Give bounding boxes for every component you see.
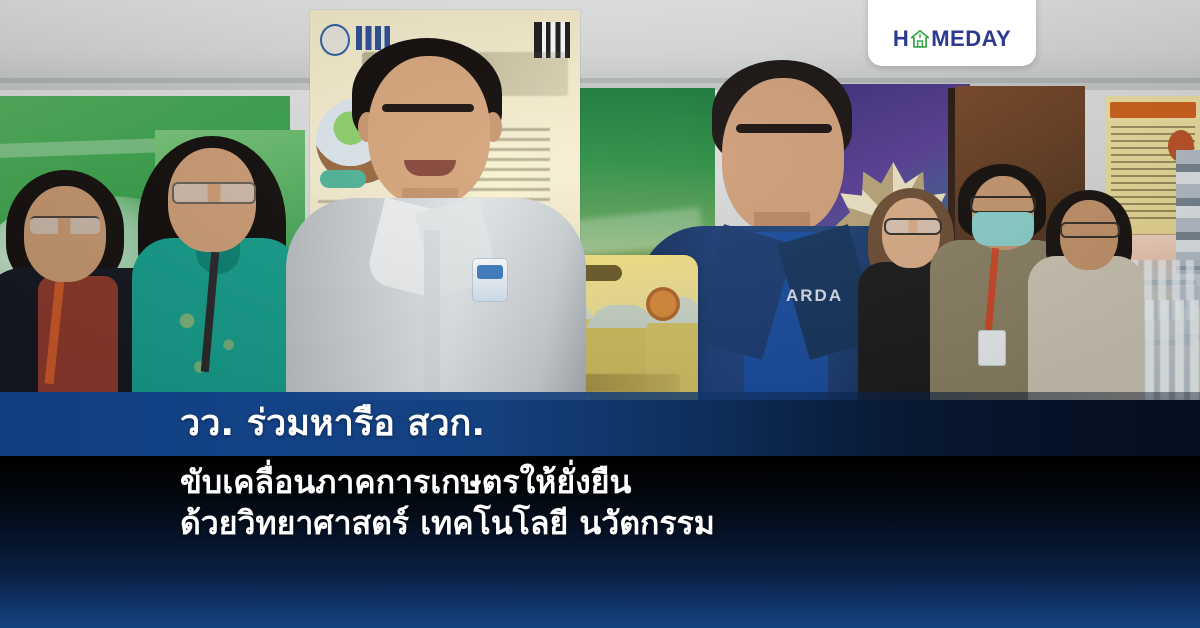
event-badge-icon [472,258,508,302]
poster-emblem-icon [320,24,350,56]
glasses-icon [1060,222,1120,238]
id-card-icon [978,330,1006,366]
man-grey-shirt-placket [424,230,440,400]
headline-line-2: ขับเคลื่อนภาคการเกษตรให้ยั่งยืน [180,462,715,503]
bottom-gradient-panel: ขับเคลื่อนภาคการเกษตรให้ยั่งยืน ด้วยวิทย… [0,456,1200,628]
man-navy-jacket-head [722,78,844,234]
headline-subtext: ขับเคลื่อนภาคการเกษตรให้ยั่งยืน ด้วยวิทย… [180,462,715,544]
man-grey-shirt-smile [404,160,456,176]
headline-blue-strip: วว. ร่วมหารือ สวก. [0,392,1200,456]
man-grey-shirt-head [368,56,490,206]
glasses-icon [970,196,1036,213]
backdrop-swoosh [0,138,176,158]
poster-chip [320,170,366,188]
homeday-logo-badge[interactable]: H MEDAY [868,0,1036,66]
headline-line-3: ด้วยวิทยาศาสตร์ เทคโนโลยี นวัตกรรม [180,503,715,544]
man-grey-shirt-brow [382,104,474,112]
glasses-icon [884,218,942,235]
woman-dark-jacket-head [24,186,106,282]
woman-cream-top-body [1028,256,1144,400]
headline-line-1: วว. ร่วมหารือ สวก. [180,406,485,442]
face-mask-icon [972,212,1034,246]
ceiling-seam [0,78,1200,83]
logo-text-after: MEDAY [931,28,1011,50]
house-icon [910,29,930,49]
man-navy-jacket-brow [736,124,832,133]
logo-text-before: H [893,28,909,50]
quality-seal-icon [646,287,680,321]
homeday-logo: H MEDAY [893,28,1011,50]
poster-title-bar [1110,102,1196,118]
glasses-icon [172,182,256,204]
arda-jacket-text: ARDA [786,286,843,306]
social-banner: ARDA [0,0,1200,628]
glasses-icon [30,216,100,234]
